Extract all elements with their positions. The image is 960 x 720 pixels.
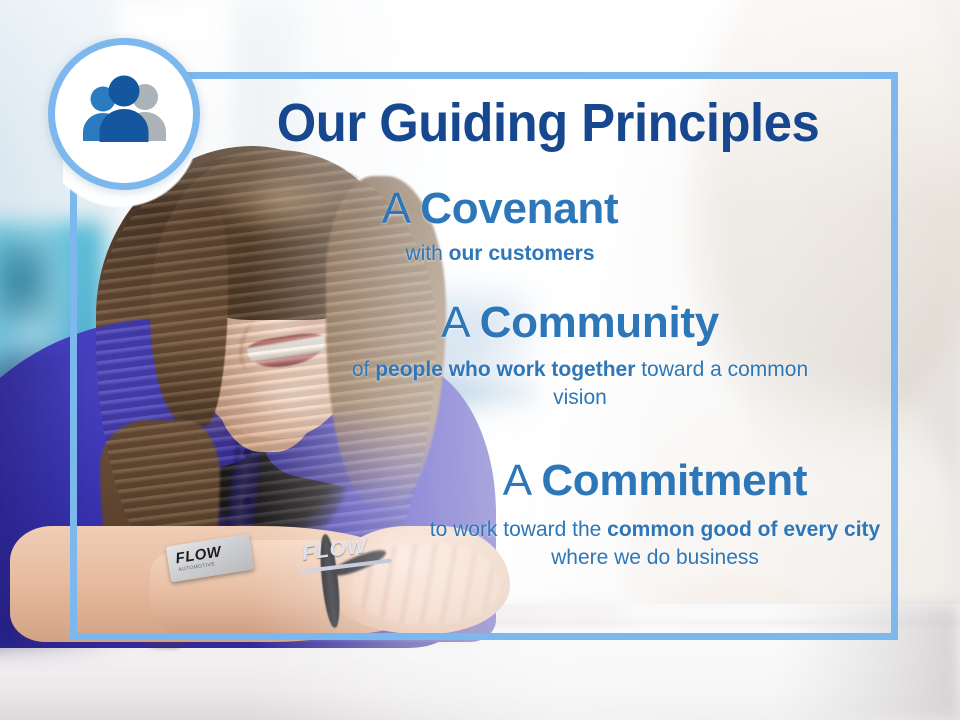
people-icon-badge [48,38,200,190]
principle-covenant: A Covenant with our customers [300,186,700,268]
principle-commitment-sub-bold: common good of every city [607,518,880,541]
principle-covenant-subtext: with our customers [300,240,700,268]
principle-commitment-heading: A Commitment [420,458,890,504]
principle-commitment-sub-lead: to work toward the [430,518,607,541]
principle-community: A Community of people who work together … [350,300,810,412]
people-group-icon [74,64,174,164]
principle-community-subtext: of people who work together toward a com… [350,356,810,412]
principle-community-sub-bold: people who work together [375,358,635,381]
principle-covenant-sub-bold: our customers [449,242,595,265]
principle-commitment: A Commitment to work toward the common g… [420,458,890,572]
principle-commitment-sub-tail: where we do business [551,546,759,569]
principle-covenant-heading: A Covenant [300,186,700,232]
principle-commitment-article: A [503,456,542,505]
principle-community-keyword: Community [480,298,719,347]
desk-right-shading [780,604,960,720]
principle-community-article: A [441,298,480,347]
principle-covenant-article: A [382,184,421,233]
principle-commitment-subtext: to work toward the common good of every … [420,516,890,572]
guiding-principles-graphic: FLOW AUTOMOTIVE FLOW Our Guiding Princip… [0,0,960,720]
principle-covenant-sub-lead: with [405,242,448,265]
principle-community-sub-lead: of [352,358,375,381]
principle-community-heading: A Community [350,300,810,346]
page-title: Our Guiding Principles [238,96,858,150]
principle-commitment-keyword: Commitment [541,456,807,505]
principle-covenant-keyword: Covenant [420,184,618,233]
